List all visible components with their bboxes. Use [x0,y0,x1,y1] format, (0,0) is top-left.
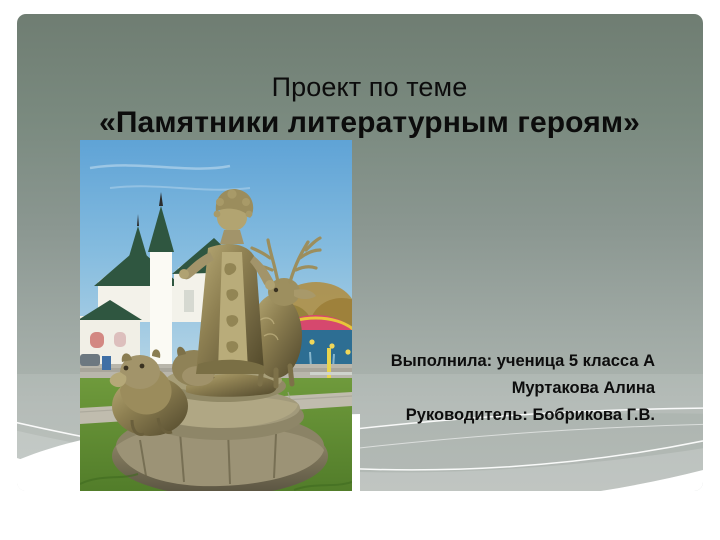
photo-monument-sculpture [80,140,352,491]
slide-canvas: Проект по теме «Памятники литературным г… [17,14,703,491]
credit-line-supervisor: Руководитель: Бобрикова Г.В. [347,402,655,429]
credits-block: Выполнила: ученица 5 класса А Муртакова … [347,348,655,429]
slide-title: Проект по теме «Памятники литературным г… [57,70,682,142]
slide-root: Проект по теме «Памятники литературным г… [0,0,720,540]
credit-line-author: Выполнила: ученица 5 класса А [347,348,655,375]
title-line-primary: Проект по теме [57,70,682,104]
credit-line-author-name: Муртакова Алина [347,375,655,402]
title-line-secondary: «Памятники литературным героям» [57,104,682,142]
